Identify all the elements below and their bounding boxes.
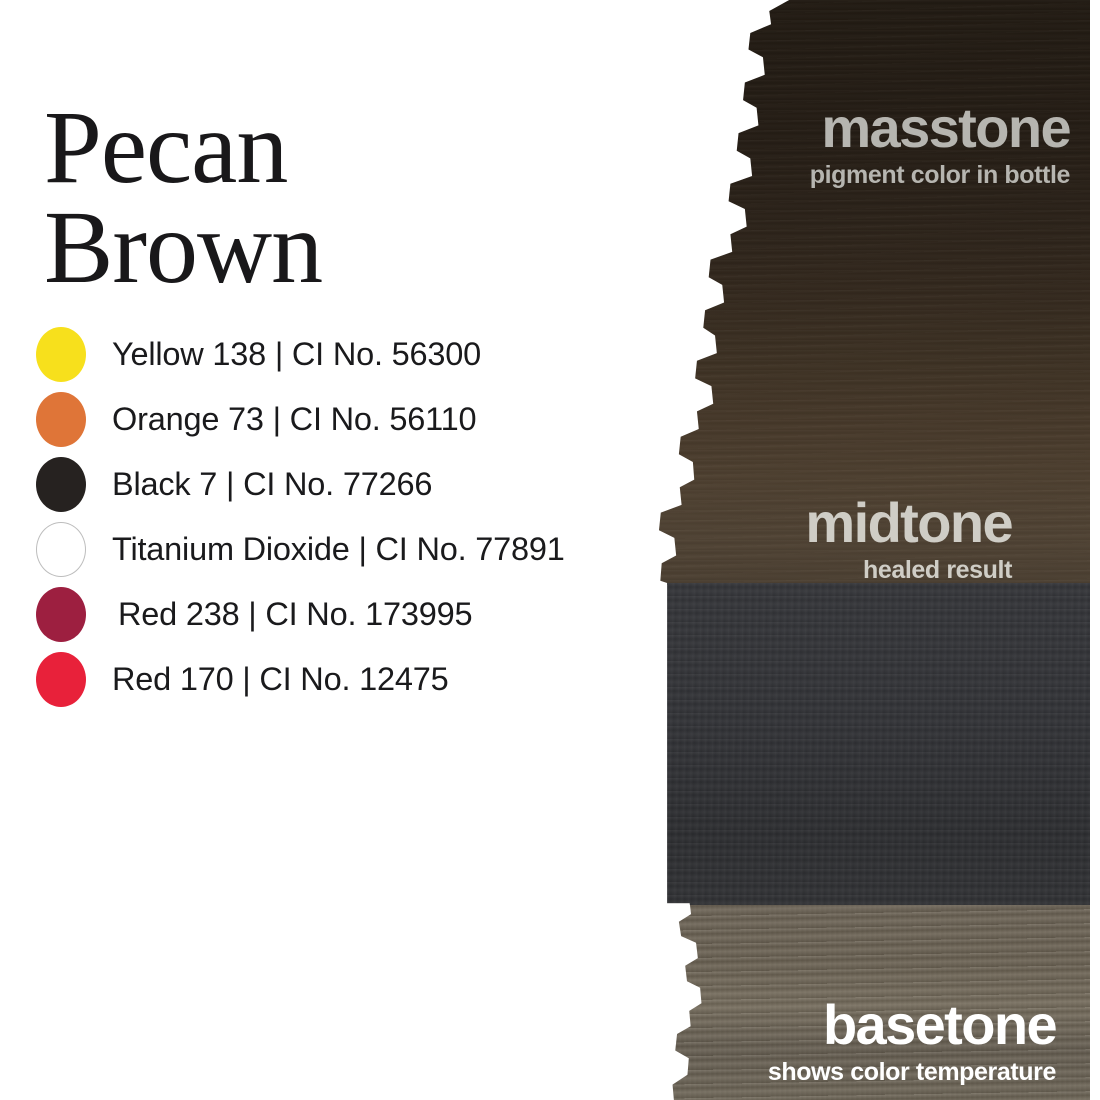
list-item: Titanium Dioxide | CI No. 77891 — [0, 517, 660, 582]
list-item: Orange 73 | CI No. 56110 — [0, 387, 660, 452]
basetone-title: basetone — [768, 997, 1056, 1053]
list-item: Yellow 138 | CI No. 56300 — [0, 322, 660, 387]
ingredient-label: Orange 73 | CI No. 56110 — [112, 401, 476, 438]
ingredient-label: Red 170 | CI No. 12475 — [112, 661, 449, 698]
list-item: Red 170 | CI No. 12475 — [0, 647, 660, 712]
basetone-label: basetone shows color temperature — [768, 997, 1056, 1085]
list-item: Black 7 | CI No. 77266 — [0, 452, 660, 517]
basetone-subtitle: shows color temperature — [768, 1060, 1056, 1085]
midtone-subtitle: healed result — [805, 558, 1012, 583]
ingredient-label: Red 238 | CI No. 173995 — [118, 596, 472, 633]
midtone-inset-block — [666, 583, 1092, 905]
masstone-title: masstone — [810, 100, 1070, 156]
ingredient-list: Yellow 138 | CI No. 56300 Orange 73 | CI… — [0, 322, 660, 712]
right-white-margin — [1090, 0, 1100, 1100]
swatch-orange-73-icon — [36, 392, 86, 447]
midtone-title: midtone — [805, 495, 1012, 551]
left-info-column: Pecan Brown Yellow 138 | CI No. 56300 Or… — [0, 0, 660, 1100]
swatch-red-170-icon — [36, 652, 86, 707]
ingredient-label: Titanium Dioxide | CI No. 77891 — [112, 531, 565, 568]
masstone-subtitle: pigment color in bottle — [810, 163, 1070, 188]
ingredient-label: Black 7 | CI No. 77266 — [112, 466, 432, 503]
page-title: Pecan Brown — [44, 98, 644, 298]
swatch-red-238-icon — [36, 587, 86, 642]
midtone-label: midtone healed result — [805, 495, 1012, 583]
swatch-titanium-dioxide-icon — [36, 522, 86, 577]
masstone-label: masstone pigment color in bottle — [810, 100, 1070, 188]
swatch-black-7-icon — [36, 457, 86, 512]
swatch-yellow-138-icon — [36, 327, 86, 382]
pigment-color-card: Pecan Brown Yellow 138 | CI No. 56300 Or… — [0, 0, 1100, 1100]
list-item: Red 238 | CI No. 173995 — [0, 582, 660, 647]
ingredient-label: Yellow 138 | CI No. 56300 — [112, 336, 481, 373]
